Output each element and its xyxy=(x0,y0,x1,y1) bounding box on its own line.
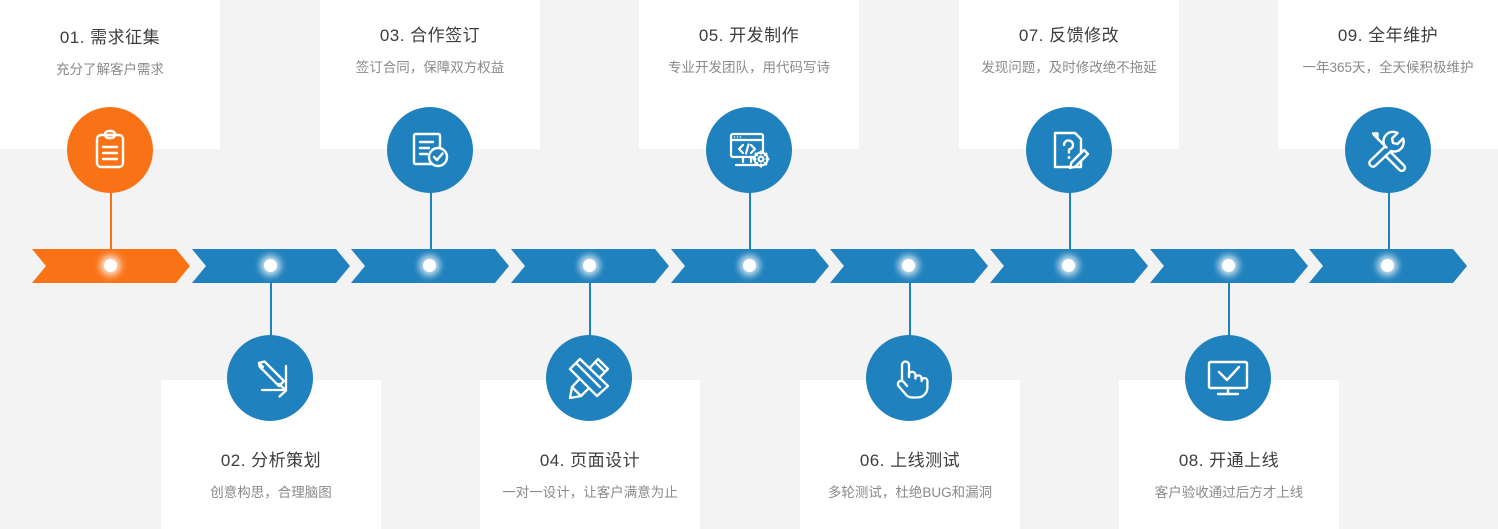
step-desc-06: 多轮测试，杜绝BUG和漏洞 xyxy=(800,483,1020,503)
step-desc-07: 发现问题，及时修改绝不拖延 xyxy=(959,58,1179,78)
step-marker-07 xyxy=(1062,259,1075,272)
step-title-08: 08. 开通上线 xyxy=(1119,450,1339,472)
step-icon-circle-04[interactable] xyxy=(546,335,632,421)
monitor-check-icon xyxy=(1204,354,1252,402)
step-title-07: 07. 反馈修改 xyxy=(959,25,1179,47)
step-desc-05: 专业开发团队，用代码写诗 xyxy=(639,58,859,78)
step-labels-06: 06. 上线测试 多轮测试，杜绝BUG和漏洞 xyxy=(800,450,1020,503)
clipboard-icon xyxy=(86,126,134,174)
connector-stem-08 xyxy=(1228,274,1230,336)
step-marker-05 xyxy=(743,259,756,272)
code-monitor-gear-icon xyxy=(725,126,773,174)
step-icon-circle-05[interactable] xyxy=(706,107,792,193)
step-labels-04: 04. 页面设计 一对一设计，让客户满意为止 xyxy=(480,450,700,503)
step-desc-09: 一年365天，全天候积极维护 xyxy=(1278,58,1498,78)
step-title-03: 03. 合作签订 xyxy=(320,25,540,47)
chevron-bar xyxy=(0,249,1498,283)
step-icon-circle-09[interactable] xyxy=(1345,107,1431,193)
document-check-icon xyxy=(406,126,454,174)
step-marker-04 xyxy=(583,259,596,272)
step-labels-08: 08. 开通上线 客户验收通过后方才上线 xyxy=(1119,450,1339,503)
step-icon-circle-08[interactable] xyxy=(1185,335,1271,421)
step-desc-02: 创意构思，合理脑图 xyxy=(161,483,381,503)
step-desc-03: 签订合同，保障双方权益 xyxy=(320,58,540,78)
pencil-ruler-icon xyxy=(565,354,613,402)
step-marker-06 xyxy=(902,259,915,272)
step-marker-08 xyxy=(1222,259,1235,272)
click-hand-icon xyxy=(885,354,933,402)
step-labels-01: 01. 需求征集 充分了解客户需求 xyxy=(0,27,220,80)
step-title-05: 05. 开发制作 xyxy=(639,25,859,47)
connector-stem-06 xyxy=(909,274,911,336)
step-title-06: 06. 上线测试 xyxy=(800,450,1020,472)
step-desc-01: 充分了解客户需求 xyxy=(0,60,220,80)
step-labels-05: 05. 开发制作 专业开发团队，用代码写诗 xyxy=(639,25,859,78)
step-icon-circle-07[interactable] xyxy=(1026,107,1112,193)
step-desc-04: 一对一设计，让客户满意为止 xyxy=(480,483,700,503)
connector-stem-02 xyxy=(270,274,272,336)
step-marker-01 xyxy=(104,259,117,272)
pencil-arrow-icon xyxy=(246,354,294,402)
step-marker-09 xyxy=(1381,259,1394,272)
step-icon-circle-02[interactable] xyxy=(227,335,313,421)
step-title-02: 02. 分析策划 xyxy=(161,450,381,472)
step-marker-03 xyxy=(423,259,436,272)
wrench-screwdriver-icon xyxy=(1364,126,1412,174)
step-icon-circle-06[interactable] xyxy=(866,335,952,421)
step-labels-07: 07. 反馈修改 发现问题，及时修改绝不拖延 xyxy=(959,25,1179,78)
process-timeline: 01. 需求征集 充分了解客户需求 03. 合作签订 签订合同，保障双方权益 0… xyxy=(0,0,1498,529)
step-marker-02 xyxy=(264,259,277,272)
step-icon-circle-03[interactable] xyxy=(387,107,473,193)
step-desc-08: 客户验收通过后方才上线 xyxy=(1119,483,1339,503)
step-labels-09: 09. 全年维护 一年365天，全天候积极维护 xyxy=(1278,25,1498,78)
step-title-09: 09. 全年维护 xyxy=(1278,25,1498,47)
step-labels-03: 03. 合作签订 签订合同，保障双方权益 xyxy=(320,25,540,78)
connector-stem-04 xyxy=(589,274,591,336)
step-title-01: 01. 需求征集 xyxy=(0,27,220,49)
question-edit-icon xyxy=(1045,126,1093,174)
step-title-04: 04. 页面设计 xyxy=(480,450,700,472)
step-icon-circle-01[interactable] xyxy=(67,107,153,193)
step-labels-02: 02. 分析策划 创意构思，合理脑图 xyxy=(161,450,381,503)
